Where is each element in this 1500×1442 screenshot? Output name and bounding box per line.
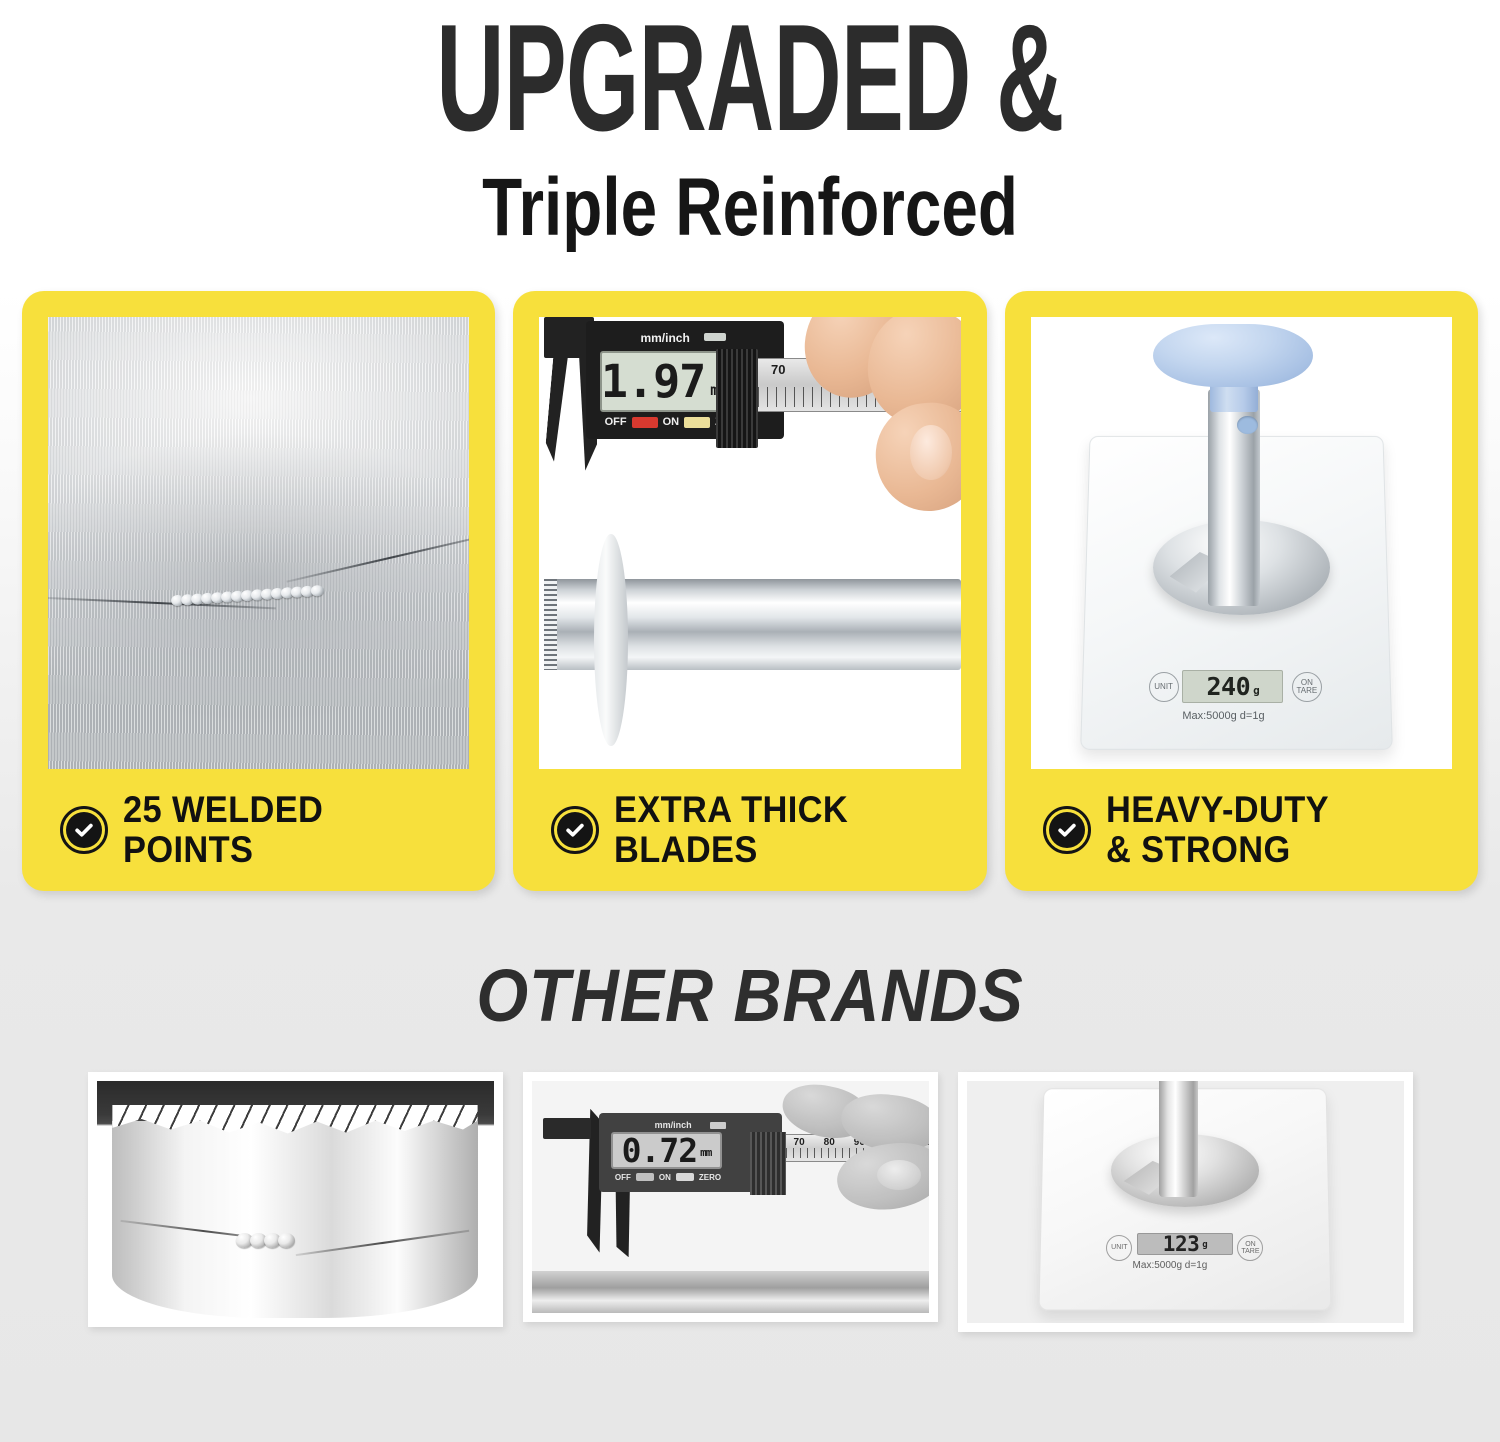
photo-hole-saw-blade <box>97 1081 494 1318</box>
caption-welded-points: 25 WELDED POINTS <box>48 769 469 891</box>
feature-cards-row: 25 WELDED POINTS mm/inch 1.97 mm OFF <box>0 291 1500 891</box>
caliper-thumbwheel[interactable] <box>750 1132 786 1195</box>
ruler-tick-70: 70 <box>771 362 785 377</box>
headline-block: UPGRADED & Triple Reinforced <box>0 0 1500 249</box>
photo-caliper-thin-blade: mm/inch 0.72 mm OFF ON ZERO 70 80 90 <box>532 1081 929 1313</box>
caliper-thumbwheel[interactable] <box>716 349 758 448</box>
caliper-screen: 1.97 mm <box>600 351 726 412</box>
scale-spec-label: Max:5000g d=1g <box>1133 1260 1208 1271</box>
fingernail-art <box>910 425 952 479</box>
caliper-reading: 1.97 <box>601 355 705 408</box>
caption-label: 25 WELDED POINTS <box>123 790 323 869</box>
check-circle-icon <box>60 806 108 854</box>
ruler-tick-70: 70 <box>794 1137 805 1148</box>
caliper-off-button[interactable] <box>632 417 658 428</box>
scale-on-tare-button[interactable]: ON TARE <box>1237 1235 1263 1261</box>
caliper-off-label: OFF <box>605 416 627 428</box>
caliper-indicator-light <box>704 333 726 341</box>
scale-reading-unit: g <box>1202 1240 1207 1250</box>
scale-unit-button[interactable]: UNIT <box>1106 1235 1132 1261</box>
caliper-on-label: ON <box>659 1173 671 1182</box>
caption-label: EXTRA THICK BLADES <box>614 790 848 869</box>
caliper-reading-unit: mm <box>700 1146 711 1159</box>
caliper-button-row: OFF ON ZERO <box>615 1173 721 1182</box>
caliper-zero-button[interactable] <box>684 417 710 428</box>
holesaw-band-art <box>112 1121 477 1318</box>
page-title: UPGRADED & <box>285 4 1215 153</box>
scale-lcd: 123 g <box>1137 1233 1233 1255</box>
weld-bead <box>278 1233 295 1248</box>
caption-extra-thick-blades: EXTRA THICK BLADES <box>539 769 960 891</box>
thin-blade-stack-art <box>532 1271 929 1313</box>
other-brands-heading: OTHER BRANDS <box>75 953 1425 1038</box>
photo-corer-on-scale: 240 g UNIT ON TARE Max:5000g d=1g <box>1031 317 1452 769</box>
caliper-on-label: ON <box>663 416 680 428</box>
page-subtitle: Triple Reinforced <box>150 167 1350 249</box>
scale-unit-button[interactable]: UNIT <box>1149 672 1179 702</box>
comparison-panel-welded-points[interactable] <box>88 1072 503 1327</box>
caliper-screen: 0.72 mm <box>611 1132 722 1169</box>
fingernail-art <box>877 1160 921 1190</box>
photo-weld-seam <box>48 317 469 769</box>
caliper-zero-button[interactable] <box>676 1173 694 1181</box>
scale-spec-label: Max:5000g d=1g <box>1182 710 1264 722</box>
scale-on-tare-button[interactable]: ON TARE <box>1292 672 1322 702</box>
feature-card-welded-points[interactable]: 25 WELDED POINTS <box>22 291 495 891</box>
scale-reading-unit: g <box>1253 684 1259 697</box>
caliper-zero-label: ZERO <box>699 1173 721 1182</box>
comparison-panel-weight[interactable]: 123 g UNIT ON TARE Max:5000g d=1g <box>958 1072 1413 1332</box>
feature-card-extra-thick-blades[interactable]: mm/inch 1.97 mm OFF ON ZERO 70 80 9 <box>513 291 986 891</box>
caption-heavy-duty: HEAVY-DUTY & STRONG <box>1031 769 1452 891</box>
weld-bead <box>311 585 325 597</box>
corer-teeth-art <box>544 579 557 669</box>
scale-reading: 240 <box>1206 672 1250 701</box>
caliper-unit-label: mm/inch <box>655 1120 692 1130</box>
comparison-row: mm/inch 0.72 mm OFF ON ZERO 70 80 90 <box>0 1072 1500 1332</box>
corer-shaft-art <box>1159 1081 1198 1197</box>
check-circle-icon <box>1043 806 1091 854</box>
check-circle-icon <box>551 806 599 854</box>
scale-lcd: 240 g <box>1182 670 1283 704</box>
steel-shadow-art <box>48 317 469 769</box>
ruler-tick-80: 80 <box>824 1137 835 1148</box>
caliper-reading: 0.72 <box>622 1131 697 1170</box>
photo-caliper-measuring-blade: mm/inch 1.97 mm OFF ON ZERO 70 80 9 <box>539 317 960 769</box>
comparison-panel-blade-thickness[interactable]: mm/inch 0.72 mm OFF ON ZERO 70 80 90 <box>523 1072 938 1322</box>
caption-label: HEAVY-DUTY & STRONG <box>1106 790 1329 869</box>
corer-blue-handle-art <box>1153 324 1313 387</box>
holesaw-weld-cluster <box>239 1233 295 1248</box>
caliper-off-button[interactable] <box>636 1173 654 1181</box>
caliper-jaw-upper <box>543 1118 591 1139</box>
caliper-indicator-light <box>710 1122 726 1129</box>
feature-card-heavy-duty[interactable]: 240 g UNIT ON TARE Max:5000g d=1g HEAVY-… <box>1005 291 1478 891</box>
photo-other-corer-on-scale: 123 g UNIT ON TARE Max:5000g d=1g <box>967 1081 1404 1323</box>
corer-flange-art <box>594 534 628 746</box>
caliper-off-label: OFF <box>615 1173 631 1182</box>
scale-reading: 123 <box>1163 1232 1199 1256</box>
caliper-unit-label: mm/inch <box>640 331 689 345</box>
